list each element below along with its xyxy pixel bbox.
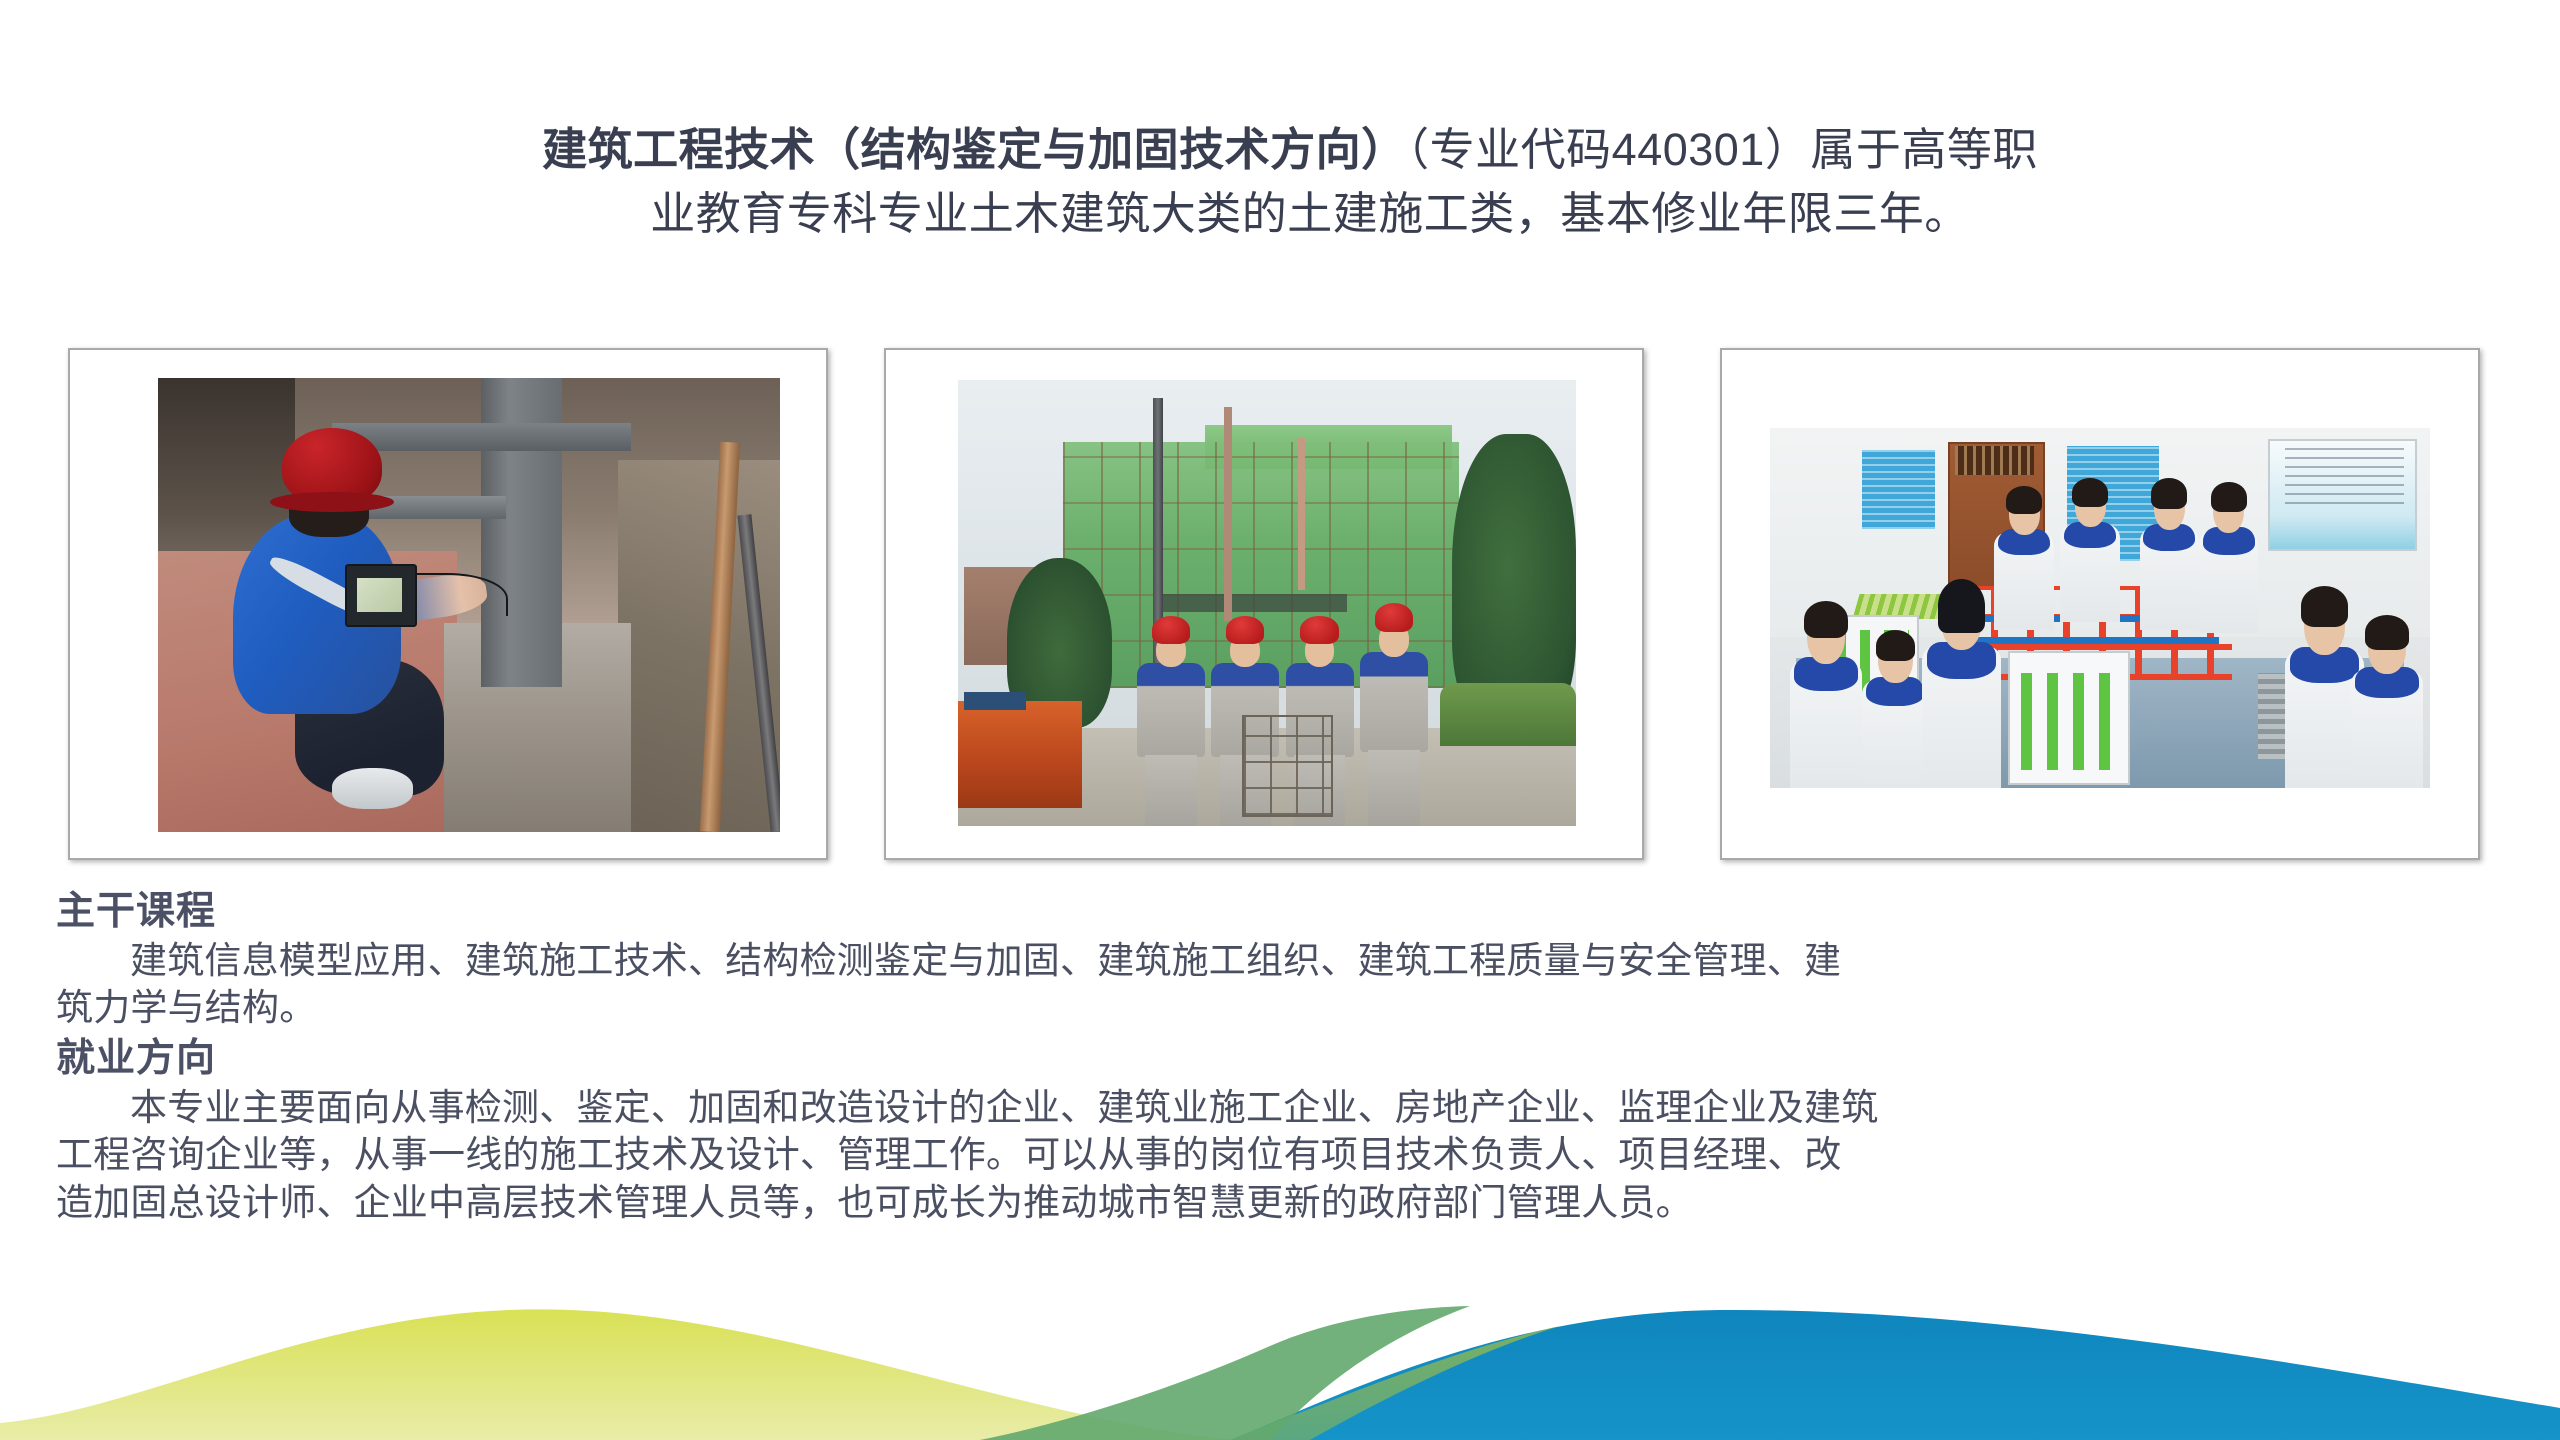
content-body: 主干课程 建筑信息模型应用、建筑施工技术、结构检测鉴定与加固、建筑施工组织、建筑… (56, 888, 2516, 1226)
employment-line-3: 造加固总设计师、企业中高层技术管理人员等，也可成长为推动城市智慧更新的政府部门管… (56, 1179, 2516, 1226)
section-body-employment: 本专业主要面向从事检测、鉴定、加固和改造设计的企业、建筑业施工企业、房地产企业、… (56, 1084, 2516, 1226)
core-courses-line-2: 筑力学与结构。 (56, 984, 2516, 1031)
section-body-core-courses: 建筑信息模型应用、建筑施工技术、结构检测鉴定与加固、建筑施工组织、建筑工程质量与… (56, 937, 2516, 1032)
photo-2 (958, 380, 1576, 826)
employment-line-2: 工程咨询企业等，从事一线的施工技术及设计、管理工作。可以从事的岗位有项目技术负责… (56, 1131, 2516, 1178)
photo-frame-3 (1720, 348, 2480, 860)
section-heading-employment: 就业方向 (56, 1035, 2516, 1083)
employment-line-1: 本专业主要面向从事检测、鉴定、加固和改造设计的企业、建筑业施工企业、房地产企业、… (56, 1084, 2516, 1131)
photo-frame-2 (884, 348, 1644, 860)
core-courses-line-1: 建筑信息模型应用、建筑施工技术、结构检测鉴定与加固、建筑施工组织、建筑工程质量与… (56, 937, 2516, 984)
title-line-1: 建筑工程技术（结构鉴定与加固技术方向）（专业代码440301）属于高等职 (0, 118, 2560, 182)
title-normal-part: （专业代码440301）属于高等职 (1407, 124, 2038, 175)
slide-root: 建筑工程技术（结构鉴定与加固技术方向）（专业代码440301）属于高等职 业教育… (0, 0, 2560, 1440)
footer-wave-decoration (0, 1290, 2560, 1440)
wave-green (0, 1309, 1240, 1440)
photo-frame-1 (68, 348, 828, 860)
photo-1 (158, 378, 780, 832)
page-title: 建筑工程技术（结构鉴定与加固技术方向）（专业代码440301）属于高等职 业教育… (0, 118, 2560, 246)
title-line-2: 业教育专科专业土木建筑大类的土建施工类，基本修业年限三年。 (0, 182, 2560, 246)
photo-3 (1770, 428, 2430, 788)
section-heading-core-courses: 主干课程 (56, 888, 2516, 936)
wave-svg (0, 1290, 2560, 1440)
title-bold-part: 建筑工程技术（结构鉴定与加固技术方向） (542, 124, 1407, 175)
photo-gallery (0, 348, 2560, 868)
